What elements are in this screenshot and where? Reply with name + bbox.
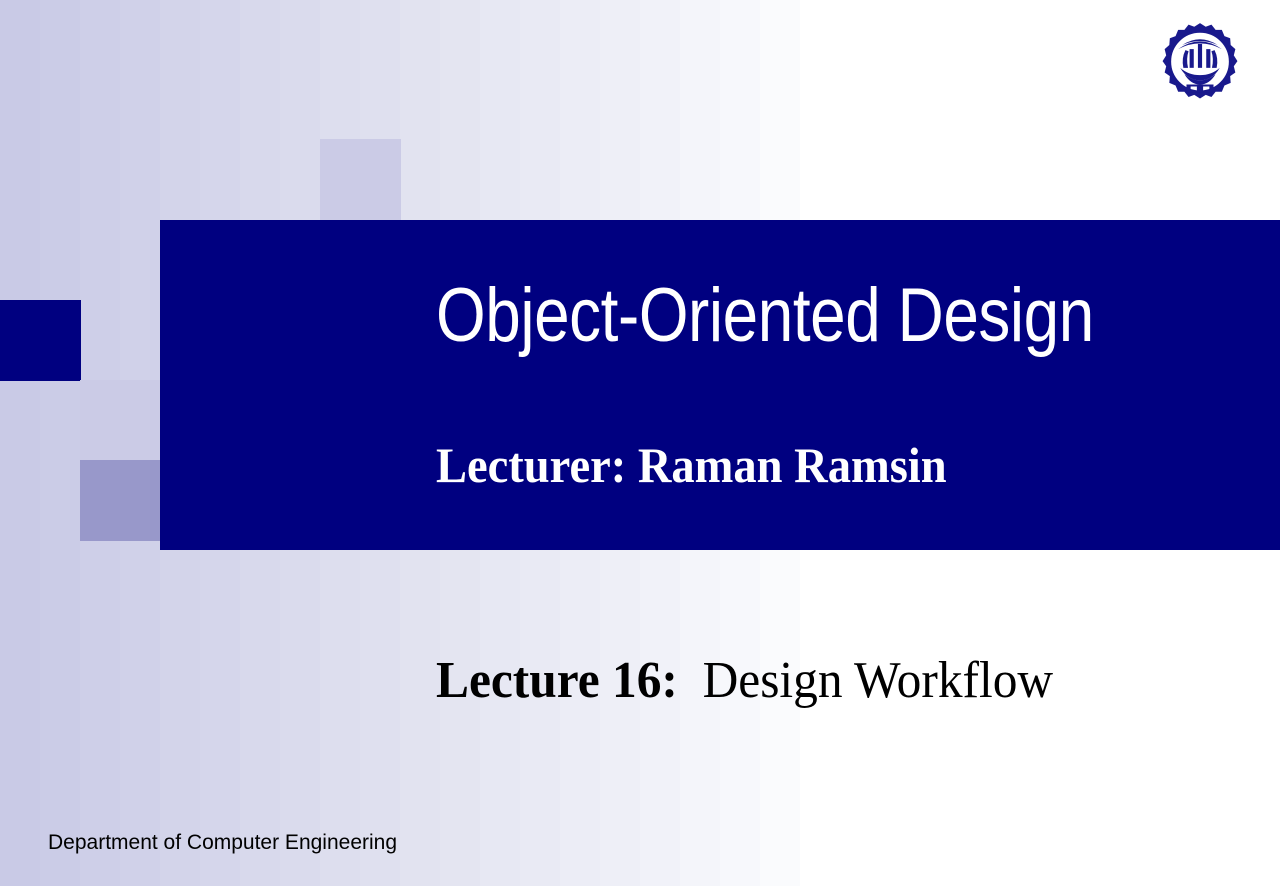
university-logo	[1148, 20, 1252, 124]
title-banner	[160, 220, 1280, 550]
footer-department: Department of Computer Engineering	[48, 832, 397, 853]
square-r2-c0	[0, 300, 81, 381]
square-r0-c4	[320, 139, 401, 220]
square-r3-c1	[80, 380, 161, 461]
lecture-topic: Design Workflow	[703, 652, 1053, 709]
square-r4-c1	[80, 460, 161, 541]
lecture-heading: Lecture 16:Design Workflow	[436, 655, 1215, 707]
page-title: Object-Oriented Design	[436, 278, 1108, 354]
lecturer-line: Lecturer: Raman Ramsin	[436, 440, 1180, 490]
sharif-gear-tulip-icon	[1148, 20, 1252, 124]
slide-root: Object-Oriented Design Lecturer: Raman R…	[0, 0, 1280, 886]
lecture-number: Lecture 16:	[436, 652, 678, 709]
